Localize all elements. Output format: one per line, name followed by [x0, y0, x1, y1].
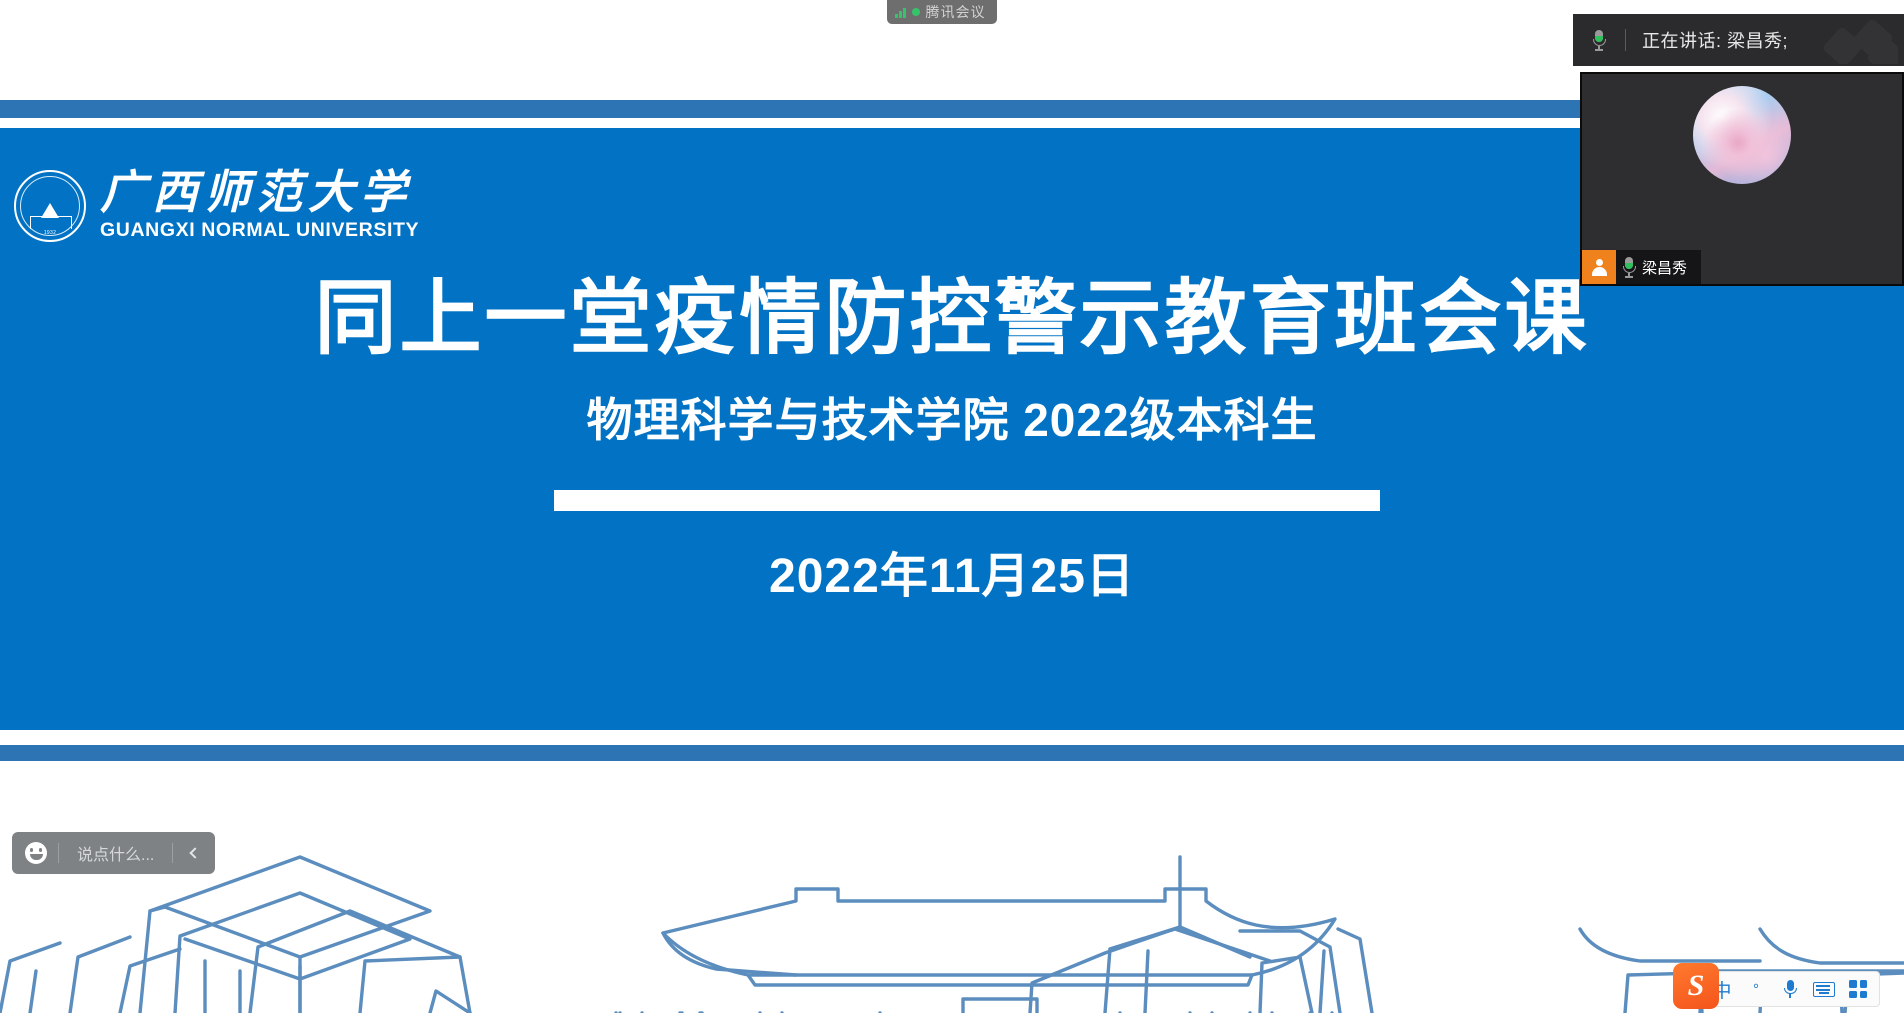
signal-bars-icon [895, 7, 906, 18]
chat-input-placeholder[interactable]: 说点什么... [59, 841, 172, 865]
university-seal-icon: 1932 [14, 170, 86, 242]
participant-video-tile[interactable]: 梁昌秀 [1580, 72, 1904, 286]
slide-title: 同上一堂疫情防控警示教育班会课 [0, 274, 1904, 364]
header-divider [1625, 29, 1626, 51]
ime-toolbar[interactable]: 中 ° [1700, 971, 1880, 1007]
slide-subtitle: 物理科学与技术学院 2022级本科生 [0, 384, 1904, 450]
university-logo: 1932 广西师范大学 GUANGXI NORMAL UNIVERSITY [14, 170, 419, 242]
meeting-app-label: 腾讯会议 [926, 2, 986, 22]
chevron-left-icon[interactable] [173, 832, 213, 874]
sogou-logo-icon[interactable]: S [1673, 963, 1719, 1009]
screen-root: 1932 广西师范大学 GUANGXI NORMAL UNIVERSITY 同上… [0, 0, 1904, 1013]
microphone-icon[interactable] [1773, 972, 1807, 1006]
slide-bottom-stripe-gap [0, 730, 1904, 745]
avatar [1693, 86, 1791, 184]
diamond-decoration-icon [1824, 20, 1898, 64]
university-name-cn: 广西师范大学 [100, 170, 419, 217]
microphone-icon [1573, 30, 1625, 51]
keyboard-icon[interactable] [1807, 972, 1841, 1006]
participant-panel: 正在讲话: 梁昌秀; 梁昌秀 [1573, 14, 1904, 286]
app-grid-icon[interactable] [1841, 972, 1875, 1006]
campus-buildings-line-art [0, 761, 1904, 1013]
speaking-now-label: 正在讲话: 梁昌秀; [1642, 27, 1788, 53]
chat-input-bar[interactable]: 说点什么... [12, 832, 215, 874]
slide-date: 2022年11月25日 [0, 536, 1904, 606]
emoji-smiley-icon[interactable] [14, 832, 58, 874]
microphone-icon [1616, 257, 1642, 278]
green-status-dot-icon [912, 8, 920, 16]
seal-year-label: 1932 [30, 230, 70, 236]
university-name-en: GUANGXI NORMAL UNIVERSITY [100, 219, 419, 242]
tencent-meeting-status-pill[interactable]: 腾讯会议 [887, 0, 997, 24]
ime-punctuation-button[interactable]: ° [1739, 972, 1773, 1006]
slide-bottom-stripe [0, 745, 1904, 761]
participant-name: 梁昌秀 [1642, 257, 1701, 278]
participant-name-bar: 梁昌秀 [1582, 250, 1701, 284]
slide-divider-rule [554, 490, 1380, 511]
host-person-icon [1582, 250, 1616, 284]
speaking-status-bar: 正在讲话: 梁昌秀; [1573, 14, 1904, 66]
